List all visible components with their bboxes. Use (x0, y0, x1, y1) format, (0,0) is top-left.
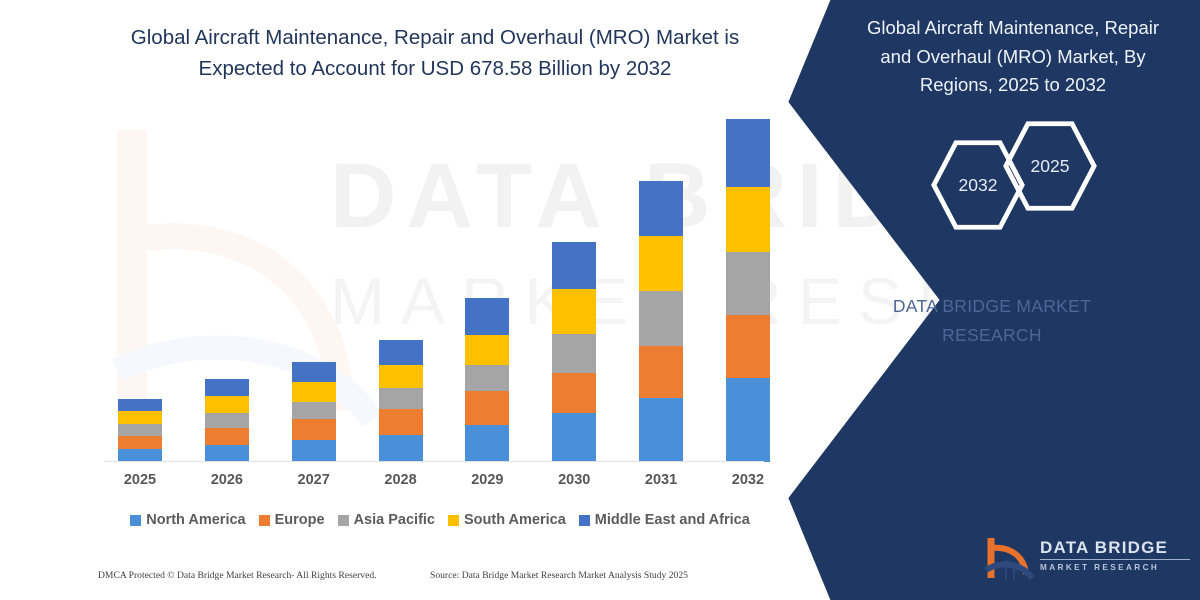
bar-segment[interactable] (292, 382, 336, 402)
bar-segment[interactable] (465, 298, 509, 335)
chart-legend: North AmericaEuropeAsia PacificSouth Ame… (104, 512, 776, 528)
bar-2026[interactable] (205, 379, 249, 462)
main-title-line1: Global Aircraft Maintenance, Repair and … (105, 22, 765, 53)
x-axis-label-2026: 2026 (205, 472, 249, 488)
bar-segment[interactable] (639, 291, 683, 346)
logo: DATA BRIDGE MARKET RESEARCH (982, 530, 1192, 588)
panel-title-line1: Global Aircraft Maintenance, Repair (848, 14, 1178, 43)
bar-segment[interactable] (118, 399, 162, 411)
x-axis-line (104, 461, 764, 462)
bar-segment[interactable] (639, 236, 683, 291)
bar-segment[interactable] (205, 396, 249, 413)
logo-text-line1: DATA BRIDGE (1040, 538, 1190, 560)
hexagon-2032: 2032 (930, 137, 1026, 233)
bar-2029[interactable] (465, 298, 509, 462)
x-axis-label-2031: 2031 (639, 472, 683, 488)
bar-segment[interactable] (118, 424, 162, 436)
legend-swatch-icon (338, 515, 349, 526)
x-axis-label-2032: 2032 (726, 472, 770, 488)
x-axis-label-2027: 2027 (292, 472, 336, 488)
bar-2030[interactable] (552, 242, 596, 462)
legend-item-south-america[interactable]: South America (448, 512, 566, 528)
x-axis-label-2025: 2025 (118, 472, 162, 488)
bar-segment[interactable] (379, 388, 423, 409)
x-axis-label-2030: 2030 (552, 472, 596, 488)
legend-label: Asia Pacific (354, 512, 435, 528)
bar-segment[interactable] (379, 365, 423, 388)
bar-segment[interactable] (205, 413, 249, 428)
panel-title-line3: Regions, 2025 to 2032 (848, 71, 1178, 100)
bar-segment[interactable] (726, 378, 770, 462)
legend-item-middle-east-and-africa[interactable]: Middle East and Africa (579, 512, 750, 528)
logo-text-line2: MARKET RESEARCH (1040, 563, 1190, 572)
bar-segment[interactable] (639, 398, 683, 462)
bar-segment[interactable] (465, 335, 509, 365)
bar-segment[interactable] (292, 362, 336, 382)
bar-segment[interactable] (726, 252, 770, 315)
legend-item-north-america[interactable]: North America (130, 512, 245, 528)
legend-label: Middle East and Africa (595, 512, 750, 528)
bar-segment[interactable] (292, 440, 336, 462)
bar-2028[interactable] (379, 340, 423, 462)
infographic-canvas: DATA BRIDGE MARKET RESEARCH Global Aircr… (0, 0, 1200, 600)
bar-segment[interactable] (205, 445, 249, 462)
legend-swatch-icon (130, 515, 141, 526)
bar-2025[interactable] (118, 399, 162, 462)
bar-segment[interactable] (379, 435, 423, 462)
panel-title-line2: and Overhaul (MRO) Market, By (848, 43, 1178, 72)
legend-swatch-icon (579, 515, 590, 526)
bar-segment[interactable] (726, 119, 770, 187)
bar-2027[interactable] (292, 362, 336, 462)
legend-swatch-icon (448, 515, 459, 526)
bar-segment[interactable] (205, 428, 249, 445)
bar-segment[interactable] (118, 411, 162, 424)
footer-dmca: DMCA Protected © Data Bridge Market Rese… (98, 570, 377, 581)
x-axis-labels: 20252026202720282029203020312032 (104, 472, 784, 488)
bar-segment[interactable] (465, 365, 509, 391)
legend-label: South America (464, 512, 566, 528)
bar-2031[interactable] (639, 181, 683, 462)
legend-label: North America (146, 512, 245, 528)
legend-label: Europe (275, 512, 325, 528)
bar-segment[interactable] (726, 315, 770, 378)
bar-segment[interactable] (552, 334, 596, 373)
panel-brand-line2: RESEARCH (822, 321, 1162, 350)
stacked-bar-chart (104, 140, 784, 462)
bar-segment[interactable] (205, 379, 249, 396)
bar-segment[interactable] (465, 425, 509, 462)
bar-segment[interactable] (552, 289, 596, 334)
main-title: Global Aircraft Maintenance, Repair and … (105, 22, 765, 84)
bar-segment[interactable] (118, 436, 162, 449)
year-hexagons: 2025 2032 (910, 118, 1140, 233)
bar-segment[interactable] (639, 181, 683, 236)
bar-segment[interactable] (292, 419, 336, 440)
legend-swatch-icon (259, 515, 270, 526)
chart-bars (104, 140, 784, 462)
bar-segment[interactable] (379, 409, 423, 435)
bar-segment[interactable] (465, 391, 509, 425)
bar-segment[interactable] (552, 373, 596, 413)
panel-title: Global Aircraft Maintenance, Repair and … (848, 14, 1178, 100)
x-axis-label-2029: 2029 (465, 472, 509, 488)
main-title-line2: Expected to Account for USD 678.58 Billi… (105, 53, 765, 84)
bar-segment[interactable] (726, 187, 770, 252)
panel-brand: DATA BRIDGE MARKET RESEARCH (822, 292, 1162, 350)
footer: DMCA Protected © Data Bridge Market Rese… (0, 570, 790, 594)
bar-segment[interactable] (552, 413, 596, 462)
x-axis-label-2028: 2028 (379, 472, 423, 488)
hexagon-2032-label: 2032 (930, 137, 1026, 233)
logo-text: DATA BRIDGE MARKET RESEARCH (1040, 538, 1190, 572)
legend-item-asia-pacific[interactable]: Asia Pacific (338, 512, 435, 528)
bar-2032[interactable] (726, 119, 770, 462)
logo-mark-icon (982, 534, 1034, 584)
footer-source: Source: Data Bridge Market Research Mark… (430, 570, 688, 581)
bar-segment[interactable] (552, 242, 596, 289)
panel-brand-line1: DATA BRIDGE MARKET (822, 292, 1162, 321)
bar-segment[interactable] (379, 340, 423, 365)
bar-segment[interactable] (292, 402, 336, 419)
legend-item-europe[interactable]: Europe (259, 512, 325, 528)
bar-segment[interactable] (639, 346, 683, 398)
